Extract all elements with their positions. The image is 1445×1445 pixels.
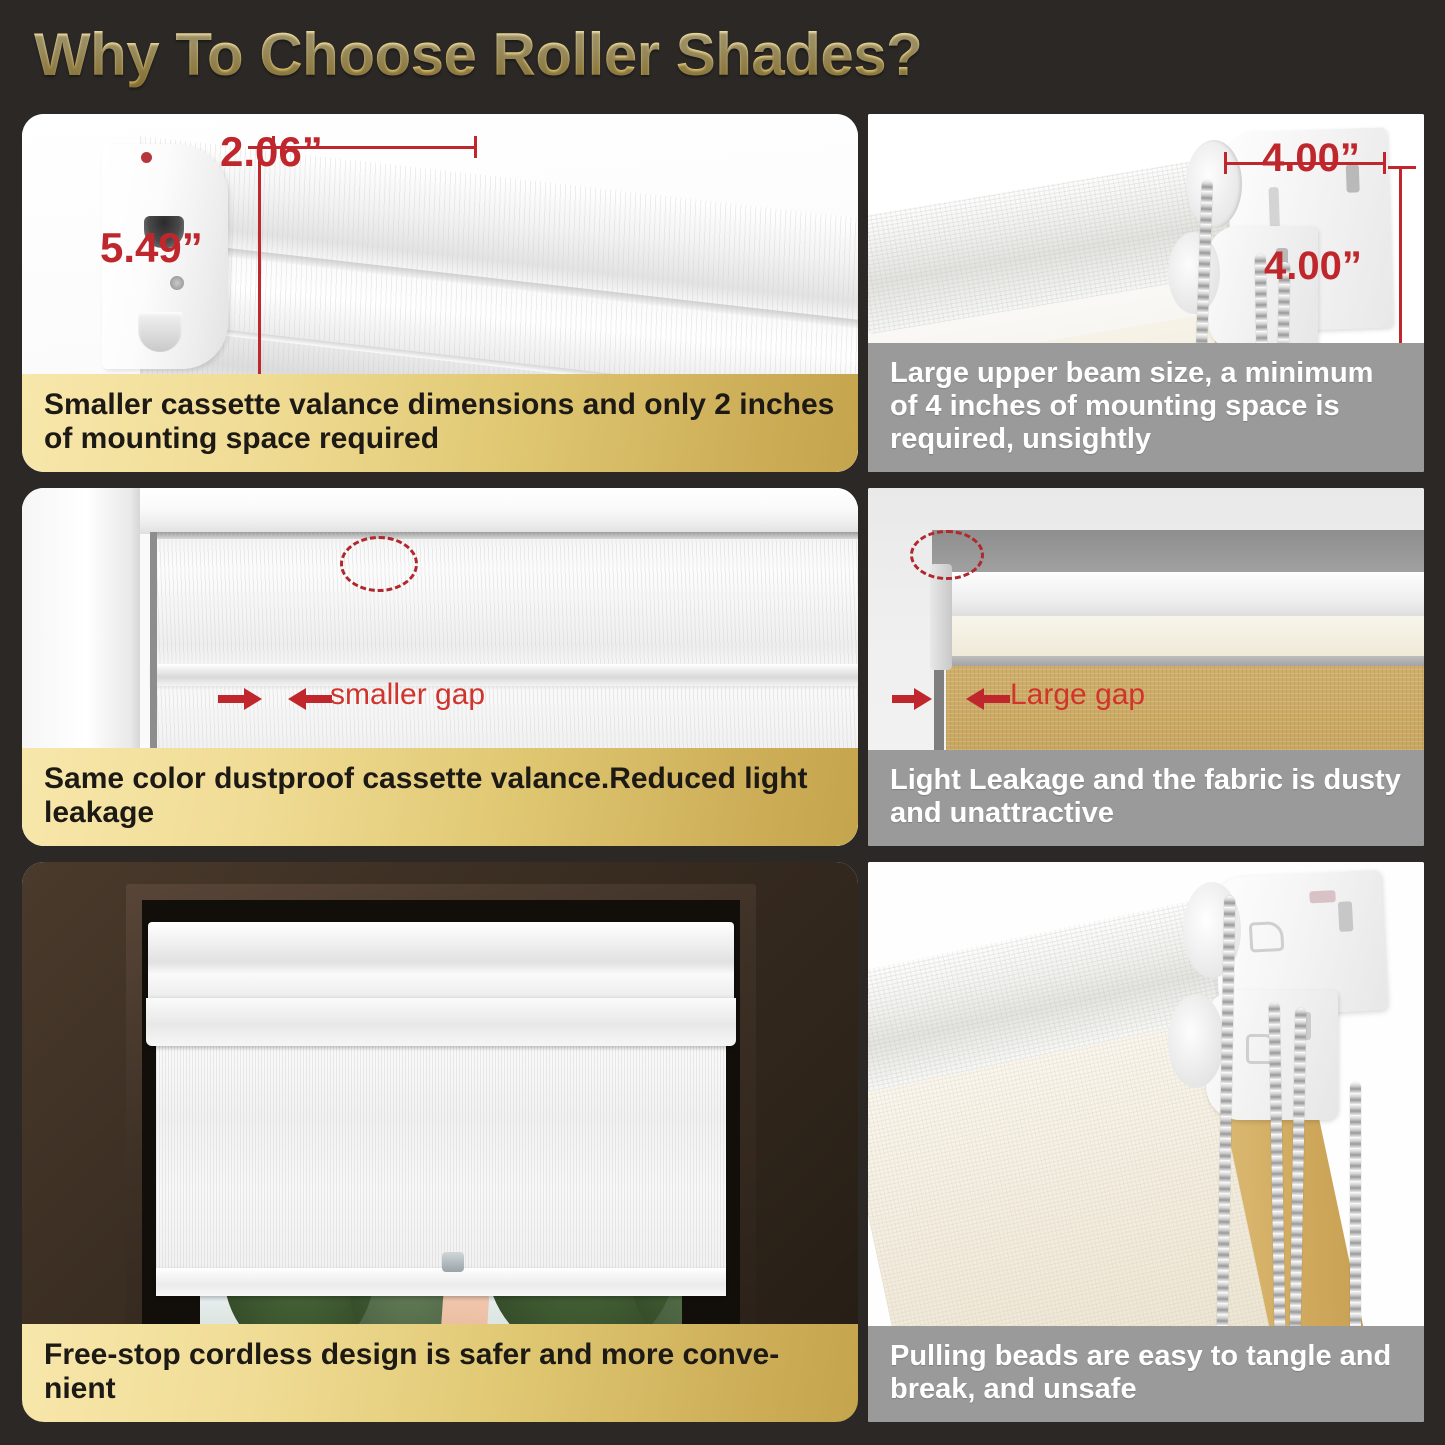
roller-shade-fabric: [156, 1042, 726, 1292]
cassette-valance: [148, 922, 734, 1006]
beam-height-tick-top: [1388, 166, 1416, 169]
roller-endcap-lower: [1168, 232, 1220, 314]
caption-free-stop-cordless: Free-stop cordless design is safer and m…: [22, 1324, 858, 1422]
beam-width-tick-right: [1383, 152, 1386, 174]
caption-large-upper-beam: Large upper beam size, a minimum of 4 in…: [868, 343, 1424, 472]
caption-dustproof-cassette-valance: Same color dustproof cassette valance.Re…: [22, 748, 858, 846]
page-title: Why To Choose Roller Shades?: [34, 20, 922, 89]
rotation-arrow-icon: [1249, 921, 1285, 953]
caption-light-leakage: Light Leakage and the fabric is dusty an…: [868, 750, 1424, 846]
height-dimension-tick-top: [248, 146, 274, 149]
upper-beam-lower-face: [932, 616, 1424, 658]
beam-height-line: [1399, 166, 1402, 366]
caption-cassette-dimensions: Smaller cassette valance dimensions and …: [22, 374, 858, 472]
panel-cassette-dimensions: 2.06” 5.49” Smaller cassette valance dim…: [22, 114, 858, 472]
large-gap-label: Large gap: [1010, 678, 1145, 712]
page-title-bar: Why To Choose Roller Shades?: [0, 0, 1445, 108]
infographic-page: Why To Choose Roller Shades? 2.06” 5.: [0, 0, 1445, 1445]
beam-width-label: 4.00”: [1262, 136, 1360, 181]
shade-pull-handle: [442, 1252, 464, 1272]
cassette-valance-lower-lip: [146, 998, 736, 1046]
beam-shadow-band: [932, 530, 1424, 576]
window-frame-top: [132, 488, 858, 534]
beam-width-tick-left: [1224, 152, 1227, 174]
shade-mid-rail: [150, 664, 858, 686]
height-dimension-line: [258, 146, 261, 394]
panel-dustproof-cassette-valance: smaller gap Same color dustproof cassett…: [22, 488, 858, 846]
panel-large-upper-beam: 4.00” 4.00” Large upper beam size, a min…: [868, 114, 1424, 472]
roller-endcap-lower: [1168, 994, 1224, 1088]
highlight-ellipse: [910, 530, 984, 580]
panel-light-leakage: Large gap Light Leakage and the fabric i…: [868, 488, 1424, 846]
endcap-knob: [138, 312, 182, 352]
panel-pulling-beads: Pulling beads are easy to tangle and bre…: [868, 862, 1424, 1422]
height-dimension-label: 5.49”: [100, 224, 203, 272]
roller-endcap-upper: [1186, 140, 1242, 228]
width-dimension-label: 2.06”: [220, 128, 323, 176]
panel-free-stop-cordless: Free-stop cordless design is safer and m…: [22, 862, 858, 1422]
window-recess: [142, 900, 740, 1344]
window-frame: [126, 884, 756, 1344]
smaller-gap-label: smaller gap: [330, 678, 485, 712]
dimension-anchor-dot: [141, 152, 152, 163]
upper-beam: [932, 572, 1424, 618]
beam-height-label: 4.00”: [1264, 244, 1362, 289]
width-dimension-tick-right: [474, 136, 477, 158]
shade-bottom-rail: [156, 1268, 726, 1296]
caption-pulling-beads: Pulling beads are easy to tangle and bre…: [868, 1326, 1424, 1422]
endcap-screw: [170, 276, 184, 290]
highlight-ellipse: [340, 536, 418, 592]
